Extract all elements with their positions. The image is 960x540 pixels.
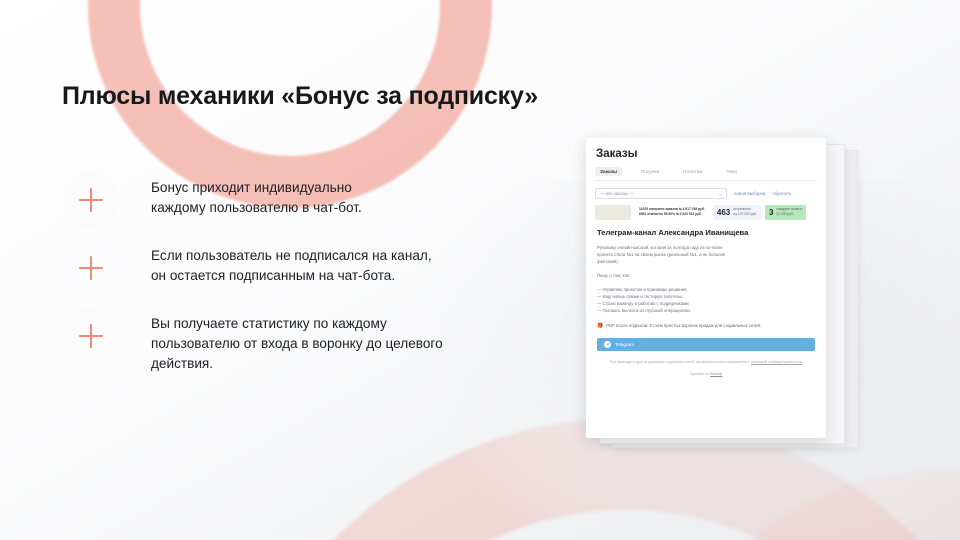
crm-tabs: Заказы Покупки Платежи Чеки xyxy=(595,167,817,181)
telegram-icon xyxy=(604,341,611,348)
article-heading: Телеграм-канал Александра Иванищева xyxy=(597,228,815,237)
crm-filter-row: — все заказы — ⌄ новая выборка сбросить xyxy=(595,188,817,199)
stat-totals-line-2: 6502 отменено 59.90% №2 923 912 руб. xyxy=(639,213,705,217)
tab-zakazy[interactable]: Заказы xyxy=(595,167,622,176)
article-paragraph: Руковожу онлайн-школой, которая за полто… xyxy=(597,245,815,266)
crm-header: Заказы Заказы Покупки Платежи Чеки — все… xyxy=(586,138,826,220)
orders-filter-value: — все заказы — xyxy=(600,191,633,196)
slide-canvas: Плюсы механики «Бонус за подписку» Бонус… xyxy=(0,0,960,540)
stat-totals-line: 11025 оплачено заказов №1 617 292 руб. xyxy=(639,208,705,212)
bothelp-link[interactable]: Bothelp xyxy=(710,372,722,376)
benefit-item-3-text: Вы получаете статистику по каждому польз… xyxy=(151,314,443,374)
tab-cheki[interactable]: Чеки xyxy=(721,167,742,176)
article-list: — Управляю проектом и принимаю решения. … xyxy=(597,287,815,315)
article-body: Телеграм-канал Александра Иванищева Руко… xyxy=(586,228,826,376)
plus-icon xyxy=(63,240,119,296)
telegram-button-label: Telegram xyxy=(615,342,634,347)
orders-filter-select[interactable]: — все заказы — ⌄ xyxy=(595,188,727,199)
crm-page-title: Заказы xyxy=(596,148,817,160)
new-selection-link[interactable]: новая выборка xyxy=(734,191,765,196)
benefit-item-1-text: Бонус приходит индивидуально каждому пол… xyxy=(151,178,362,218)
crm-screenshot-card: Заказы Заказы Покупки Платежи Чеки — все… xyxy=(586,138,826,438)
privacy-policy-link[interactable]: политикой конфиденциальности xyxy=(751,360,802,364)
benefit-item-3: Вы получаете статистику по каждому польз… xyxy=(63,308,443,374)
stat-card-active: 463 актуальных на 170 200 руб. xyxy=(713,205,761,220)
privacy-footer-text: При переходе в одну из указанных социаль… xyxy=(610,360,751,364)
benefit-item-2: Если пользователь не подписался на канал… xyxy=(63,240,432,296)
made-with-text: Сделано на xyxy=(690,372,711,376)
article-gift-note: 🎁 PDF после подписки: 8 схем простых вор… xyxy=(597,323,815,330)
decorative-ring-bottom-right xyxy=(640,470,960,540)
tab-platezhi[interactable]: Платежи xyxy=(678,167,707,176)
telegram-button[interactable]: Telegram xyxy=(597,338,815,351)
page-title: Плюсы механики «Бонус за подписку» xyxy=(62,82,538,111)
stat-card-totals: 11025 оплачено заказов №1 617 292 руб. 6… xyxy=(635,205,709,220)
stat-active-number: 463 xyxy=(717,209,730,217)
article-gift-text: PDF после подписки: 8 схем простых ворон… xyxy=(606,323,761,330)
stat-active-label: актуальных xyxy=(733,208,757,212)
gift-icon: 🎁 xyxy=(597,323,603,330)
chevron-down-icon: ⌄ xyxy=(718,191,722,197)
screenshot-card-stack: Заказы Заказы Покупки Платежи Чеки — все… xyxy=(586,138,836,438)
article-list-intro: Пишу о том, как: xyxy=(597,273,815,280)
plus-icon xyxy=(63,308,119,364)
benefit-item-2-text: Если пользователь не подписался на канал… xyxy=(151,246,432,286)
stat-active-amount: на 170 200 руб. xyxy=(733,213,757,217)
plus-icon xyxy=(63,172,119,228)
reset-link[interactable]: сбросить xyxy=(772,191,791,196)
stat-pending-label: ожидают оплаты xyxy=(776,208,802,212)
stat-pending-number: 3 xyxy=(769,209,773,217)
made-with-footer: Сделано на Bothelp xyxy=(597,372,815,376)
stat-card-muted xyxy=(595,205,631,220)
crm-stats-row: 11025 оплачено заказов №1 617 292 руб. 6… xyxy=(595,205,817,220)
stat-pending-amount: 20 000 руб. xyxy=(776,213,802,217)
privacy-footer: При переходе в одну из указанных социаль… xyxy=(597,360,815,365)
stat-card-pending: 3 ожидают оплаты 20 000 руб. xyxy=(765,205,806,220)
benefit-item-1: Бонус приходит индивидуально каждому пол… xyxy=(63,172,362,228)
tab-pokupki[interactable]: Покупки xyxy=(636,167,664,176)
